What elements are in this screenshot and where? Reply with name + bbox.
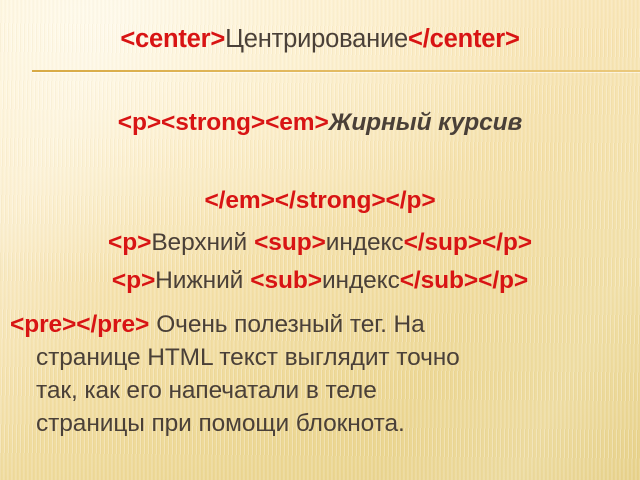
emphasis-text: Жирный курсив	[329, 109, 523, 136]
title-close-tag: </center>	[408, 25, 520, 53]
sub-close-tag: </sub>	[400, 267, 478, 294]
pre-open-tag: <pre>	[10, 311, 76, 338]
pre-text-line-4: страницы при помощи блокнота.	[10, 407, 632, 440]
p-close-tag: </p>	[386, 187, 436, 214]
pre-line-1: <pre></pre>Очень полезный тег. На	[10, 308, 632, 341]
em-open-tag: <em>	[265, 109, 329, 136]
title-label: Центрирование	[225, 25, 408, 53]
line-closing-tags: </em></strong></p>	[0, 186, 640, 216]
p-open-tag: <p>	[118, 109, 161, 136]
slide-content: <center>Центрирование</center> <p><stron…	[0, 0, 640, 480]
line-strong-em: <p><strong><em>Жирный курсив	[0, 108, 640, 138]
page-title: <center>Центрирование</center>	[0, 24, 640, 54]
strong-open-tag: <strong>	[161, 109, 265, 136]
sub-line-p-close-tag: </p>	[478, 267, 528, 294]
sup-inner-text: индекс	[326, 229, 404, 256]
sup-line-p-close-tag: </p>	[482, 229, 532, 256]
pre-close-tag: </pre>	[76, 311, 149, 338]
title-open-tag: <center>	[120, 25, 225, 53]
line-superscript: <p>Верхний<sup>индекс</sup></p>	[0, 228, 640, 258]
slide-canvas: <center>Центрирование</center> <p><stron…	[0, 0, 640, 480]
sub-line-label: Нижний	[155, 267, 243, 294]
sup-close-tag: </sup>	[404, 229, 482, 256]
pre-text-line-2: странице HTML текст выглядит точно	[10, 341, 632, 374]
sub-open-tag: <sub>	[250, 267, 322, 294]
pre-text-line-1: Очень полезный тег. На	[156, 311, 424, 338]
sup-line-label: Верхний	[151, 229, 247, 256]
line-subscript: <p>Нижний<sub>индекс</sub></p>	[0, 266, 640, 296]
strong-close-tag: </strong>	[275, 187, 386, 214]
pre-description-block: <pre></pre>Очень полезный тег. На страни…	[10, 308, 632, 440]
title-divider	[32, 70, 640, 72]
pre-text-line-3: так, как его напечатали в теле	[10, 374, 632, 407]
em-close-tag: </em>	[204, 187, 274, 214]
sup-line-p-open-tag: <p>	[108, 229, 151, 256]
sub-line-p-open-tag: <p>	[112, 267, 155, 294]
sub-inner-text: индекс	[322, 267, 400, 294]
sup-open-tag: <sup>	[254, 229, 326, 256]
